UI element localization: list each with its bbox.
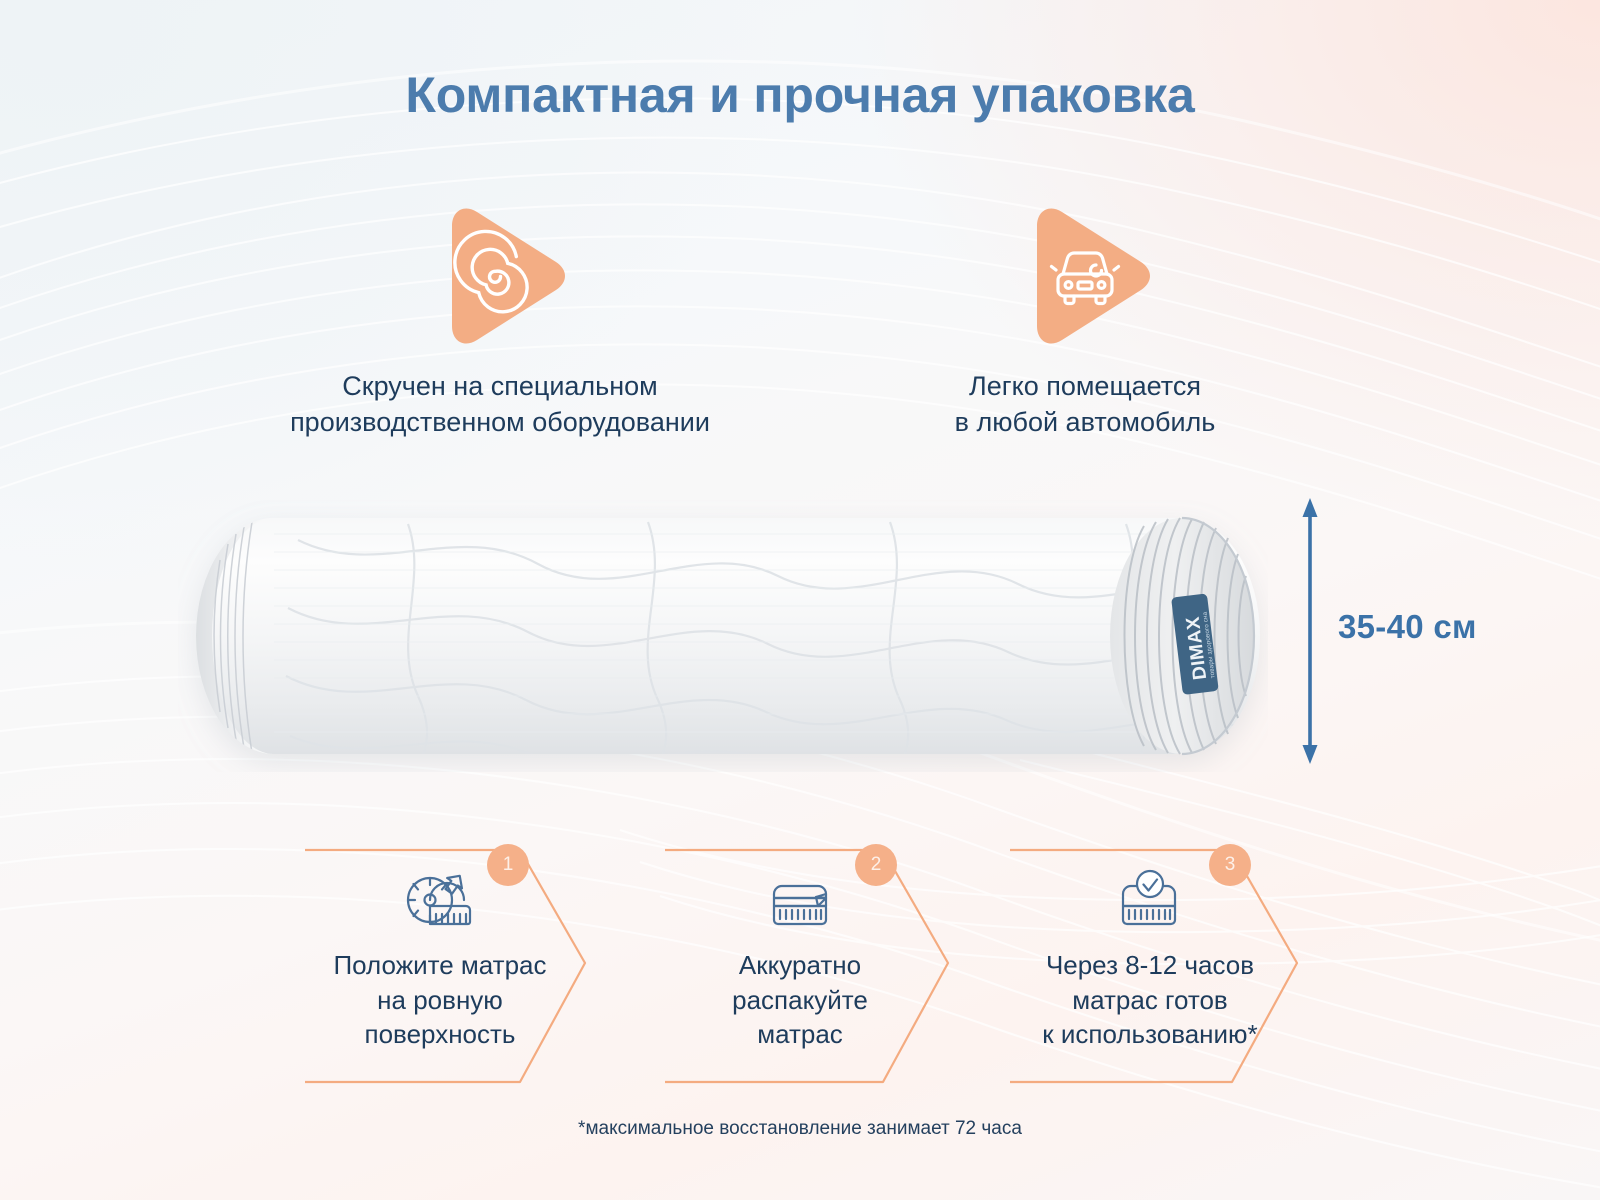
step-card-3: 3 Через 8-12 часов матрас готов к исполь… [1000, 838, 1360, 1088]
infographic-canvas: Компактная и прочная упаковка Скручен на… [0, 0, 1600, 1200]
feature-text-2-line-2: в любой автомобиль [900, 404, 1270, 440]
footnote-text: *максимальное восстановление занимает 72… [0, 1118, 1600, 1140]
step-text-2: Аккуратно распакуйте матрас [655, 948, 945, 1052]
step-text-3-line-3: к использованию* [1000, 1017, 1300, 1052]
height-dimension-arrow [1280, 495, 1340, 767]
car-front-icon [1010, 200, 1160, 352]
unpack-mattress-icon [764, 866, 836, 936]
step-text-2-line-3: матрас [655, 1017, 945, 1052]
feature-icon-wrap-1 [230, 196, 770, 356]
feature-block-rolled: Скручен на специальном производственном … [230, 196, 770, 440]
feature-text-1-line-1: Скручен на специальном [230, 368, 770, 404]
mattress-ready-check-icon [1113, 866, 1187, 936]
feature-text-2-line-1: Легко помещается [900, 368, 1270, 404]
feature-text-2: Легко помещается в любой автомобиль [900, 368, 1270, 440]
feature-text-1-line-2: производственном оборудовании [230, 404, 770, 440]
feature-icon-wrap-2 [900, 196, 1270, 356]
steps-row: 1 Положите матрас на ровную [0, 838, 1600, 1098]
height-dimension-label: 35-40 см [1338, 608, 1477, 646]
feature-block-car: Легко помещается в любой автомобиль [900, 196, 1270, 440]
step-text-1-line-2: на ровную [295, 983, 585, 1018]
step-icon-wrap-3 [1000, 866, 1300, 936]
page-title: Компактная и прочная упаковка [0, 66, 1600, 124]
step-text-3: Через 8-12 часов матрас готов к использо… [1000, 948, 1300, 1052]
step-card-2: 2 Аккуратно распакуйте матрас [655, 838, 1015, 1088]
step-card-1: 1 Положите матрас на ровную [295, 838, 655, 1088]
step-icon-wrap-2 [655, 866, 945, 936]
step-text-3-line-2: матрас готов [1000, 983, 1300, 1018]
step-icon-wrap-1 [295, 866, 585, 936]
step-text-1-line-3: поверхность [295, 1017, 585, 1052]
step-text-1-line-1: Положите матрас [295, 948, 585, 983]
unroll-mattress-icon [402, 866, 478, 936]
step-text-2-line-2: распакуйте [655, 983, 945, 1018]
step-text-3-line-1: Через 8-12 часов [1000, 948, 1300, 983]
step-text-2-line-1: Аккуратно [655, 948, 945, 983]
rolled-mattress-image: DIMAX товары здорового сна [178, 500, 1268, 772]
step-text-1: Положите матрас на ровную поверхность [295, 948, 585, 1052]
feature-text-1: Скручен на специальном производственном … [230, 368, 770, 440]
spiral-roll-icon [425, 200, 575, 352]
